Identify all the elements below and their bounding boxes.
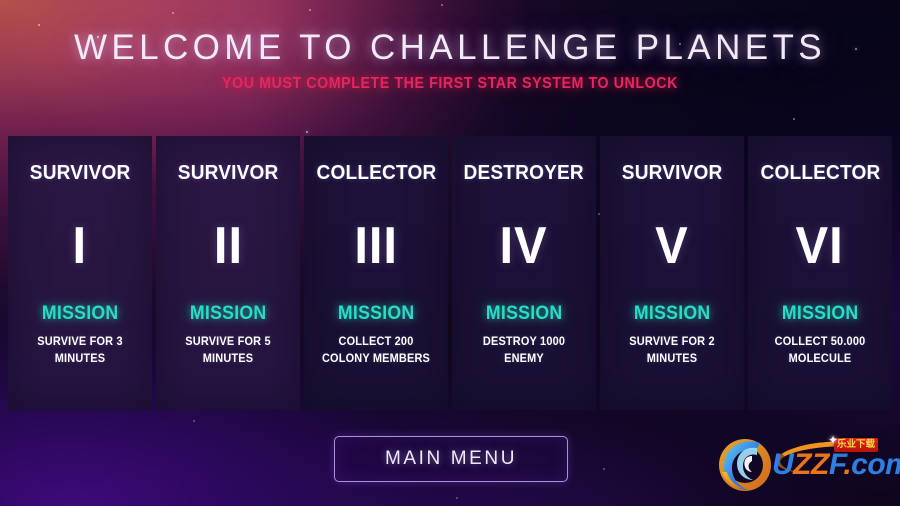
card-numeral: III (354, 213, 398, 279)
challenge-card-6[interactable]: COLLECTOR VI MISSION COLLECT 50.000 MOLE… (748, 136, 892, 410)
card-mission-label: MISSION (338, 303, 415, 325)
challenge-card-5[interactable]: SURVIVOR V MISSION SURVIVE FOR 2 MINUTES (600, 136, 744, 410)
main-menu-button[interactable]: MAIN MENU (334, 436, 568, 482)
watermark-com: com (851, 448, 900, 481)
main-menu-button-label: MAIN MENU (385, 448, 517, 470)
watermark-badge: 乐业下载 (834, 438, 878, 452)
card-type-label: SURVIVOR (622, 161, 723, 185)
page-title: WELCOME TO CHALLENGE PLANETS (0, 26, 900, 70)
watermark-dot: . (843, 448, 851, 481)
challenge-card-3[interactable]: COLLECTOR III MISSION COLLECT 200 COLONY… (304, 136, 448, 410)
uzzf-watermark: UZZF.com 乐业下载 ✦ (716, 432, 892, 498)
card-type-label: COLLECTOR (316, 161, 436, 185)
watermark-text: UZZF.com (772, 448, 900, 482)
card-mission-description: COLLECT 50.000 MOLECULE (760, 334, 880, 368)
page-header: WELCOME TO CHALLENGE PLANETS YOU MUST CO… (0, 0, 900, 93)
challenge-card-4[interactable]: DESTROYER IV MISSION DESTROY 1000 ENEMY (452, 136, 596, 410)
card-mission-label: MISSION (42, 303, 119, 325)
card-mission-description: DESTROY 1000 ENEMY (464, 334, 584, 368)
card-numeral: IV (500, 213, 548, 279)
card-type-label: SURVIVOR (178, 161, 279, 185)
card-mission-description: COLLECT 200 COLONY MEMBERS (316, 334, 436, 368)
card-mission-description: SURVIVE FOR 5 MINUTES (168, 334, 288, 368)
card-mission-description: SURVIVE FOR 3 MINUTES (20, 334, 140, 368)
challenge-planets-screen: WELCOME TO CHALLENGE PLANETS YOU MUST CO… (0, 0, 900, 506)
card-mission-description: SURVIVE FOR 2 MINUTES (612, 334, 732, 368)
page-subtitle: YOU MUST COMPLETE THE FIRST STAR SYSTEM … (36, 75, 864, 93)
sparkle-icon: ✦ (828, 434, 838, 446)
card-mission-label: MISSION (634, 303, 711, 325)
card-numeral: VI (796, 213, 844, 279)
card-numeral: II (213, 213, 242, 279)
card-mission-label: MISSION (486, 303, 563, 325)
card-numeral: I (73, 213, 88, 279)
challenge-card-1[interactable]: SURVIVOR I MISSION SURVIVE FOR 3 MINUTES (8, 136, 152, 410)
card-mission-label: MISSION (782, 303, 859, 325)
card-type-label: SURVIVOR (30, 161, 131, 185)
challenge-card-2[interactable]: SURVIVOR II MISSION SURVIVE FOR 5 MINUTE… (156, 136, 300, 410)
watermark-u: U (772, 448, 793, 481)
watermark-zz: ZZ (793, 448, 829, 481)
challenge-card-list: SURVIVOR I MISSION SURVIVE FOR 3 MINUTES… (8, 136, 892, 410)
card-type-label: DESTROYER (464, 161, 584, 185)
card-type-label: COLLECTOR (760, 161, 880, 185)
card-numeral: V (655, 213, 689, 279)
card-mission-label: MISSION (190, 303, 267, 325)
swirl-logo-icon (716, 436, 774, 494)
watermark-f: F (829, 448, 844, 481)
